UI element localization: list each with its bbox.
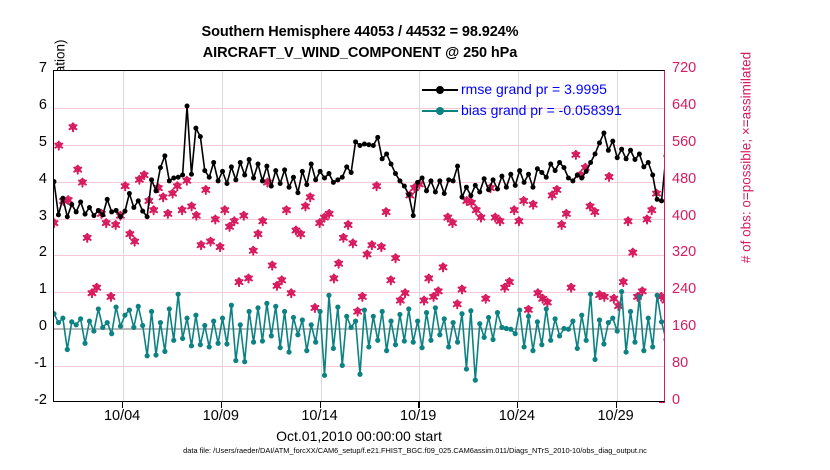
legend-marker-rmse [422,84,458,96]
rmse-point [406,192,411,197]
bias-point [335,304,340,309]
x-axis-label: Oct.01,2010 00:00:00 start [53,428,665,444]
rmse-point [380,156,385,161]
rmse-point [433,190,438,195]
rmse-point [287,185,292,190]
rmse-point [442,191,447,196]
bias-point [641,348,646,353]
rmse-point [659,198,664,203]
rmse-point [597,140,602,145]
bias-point [526,314,531,319]
bias-point [663,337,665,342]
x-tick-label: 10/24 [482,408,552,424]
y-tick-label-right: 160 [672,318,722,334]
rmse-point [641,164,646,169]
bias-point [109,331,114,336]
rmse-point [606,148,611,153]
rmse-point [468,193,473,198]
rmse-point [477,190,482,195]
bias-point [557,333,562,338]
bias-point [357,372,362,377]
bias-point [544,306,549,311]
rmse-point [251,175,256,180]
bias-point [207,344,212,349]
bias-point [171,338,176,343]
bias-point [601,341,606,346]
bias-point [238,322,243,327]
chart-title-line-2: AIRCRAFT_V_WIND_COMPONENT @ 250 hPa [0,43,720,64]
rmse-point [96,208,101,213]
y-tick-label-left: -1 [7,355,47,371]
bias-point [362,307,367,312]
bias-point [650,344,655,349]
y-tick-label-left: 3 [7,208,47,224]
bias-point [380,309,385,314]
y-tick-label-right: 0 [672,392,722,408]
rmse-point [402,184,407,189]
rmse-point [415,180,420,185]
chart-legend: rmse grand pr = 3.9995 bias grand pr = -… [418,77,626,124]
rmse-point [211,160,216,165]
bias-point [353,319,358,324]
rmse-point [637,152,642,157]
rmse-point [56,212,61,217]
bias-point [495,310,500,315]
bias-point [286,349,291,354]
bias-point [597,317,602,322]
bias-point [566,327,571,332]
rmse-point [114,208,119,213]
bias-point [482,335,487,340]
x-tick-label: 10/04 [87,408,157,424]
bias-point [180,336,185,341]
bias-point [371,314,376,319]
rmse-point [437,178,442,183]
bias-point [455,340,460,345]
bias-point [220,316,225,321]
rmse-point [224,181,229,186]
rmse-point [74,209,79,214]
bias-point [69,319,74,324]
bias-point [592,357,597,362]
rmse-point [366,142,371,147]
y-axis-right-label: # of obs: o=possible; ×=assimilated [739,0,754,323]
bias-point [300,317,305,322]
bias-point [513,331,518,336]
legend-entry-bias: bias grand pr = -0.058391 [422,100,622,121]
bias-point [468,308,473,313]
bias-point [198,342,203,347]
rmse-point [473,183,478,188]
bias-point [451,320,456,325]
rmse-point [145,214,150,219]
rmse-point [154,188,159,193]
bias-point [113,304,118,309]
bias-point [442,316,447,321]
bias-point [291,315,296,320]
rmse-point [131,205,136,210]
bias-line [54,292,665,381]
rmse-point [269,184,274,189]
bias-point [535,319,540,324]
rmse-point [91,213,96,218]
bias-point [521,344,526,349]
bias-point [189,343,194,348]
bias-point [632,340,637,345]
bias-point [437,332,442,337]
bias-point [105,320,110,325]
bias-point [78,316,83,321]
bias-point [122,313,127,318]
bias-point [317,309,322,314]
rmse-point [446,177,451,182]
bias-point [149,309,154,314]
bias-point [344,314,349,319]
rmse-point [428,178,433,183]
rmse-point [176,175,181,180]
rmse-point [544,175,549,180]
rmse-point [291,175,296,180]
bias-point [508,327,513,332]
rmse-point [198,134,203,139]
bias-point [247,309,252,314]
bias-point [623,349,628,354]
bias-point [282,309,287,314]
bias-point [366,344,371,349]
bias-point [326,293,331,298]
bias-point [397,312,402,317]
rmse-point [375,135,380,140]
rmse-point [628,148,633,153]
bias-point [637,294,642,299]
rmse-point [318,169,323,174]
bias-point [131,325,136,330]
rmse-point [615,155,620,160]
rmse-point [335,177,340,182]
rmse-point [588,160,593,165]
bias-point [313,340,318,345]
bias-point [269,333,274,338]
rmse-point [371,143,376,148]
rmse-point [553,168,558,173]
rmse-point [557,160,562,165]
y-tick-label-right: 240 [672,281,722,297]
bias-point [428,338,433,343]
bias-point [158,320,163,325]
y-tick-label-left: -2 [7,392,47,408]
bias-point [490,337,495,342]
bias-point [411,340,416,345]
bias-point [464,366,469,371]
bias-point [278,345,283,350]
bias-point [504,326,509,331]
rmse-point [384,152,389,157]
x-tick-label: 10/19 [383,408,453,424]
rmse-point [326,171,331,176]
bias-point [628,309,633,314]
bias-point [162,349,167,354]
rmse-point [242,173,247,178]
y-tick-label-left: 2 [7,244,47,260]
rmse-point [136,198,141,203]
bias-point [419,345,424,350]
bias-point [100,325,105,330]
bias-point [619,289,624,294]
bias-point [87,319,92,324]
rmse-point [513,183,518,188]
legend-marker-bias [422,105,458,117]
rmse-point [167,178,172,183]
rmse-point [548,161,553,166]
y-tick-label-left: 1 [7,281,47,297]
rmse-point [331,180,336,185]
rmse-point [105,197,110,202]
bias-point [575,346,580,351]
bias-point [304,348,309,353]
chart-title: Southern Hemisphere 44053 / 44532 = 98.9… [0,22,720,64]
data-file-footer: data file: /Users/raeder/DAI/ATM_forcXX/… [0,446,830,455]
rmse-point [664,153,666,158]
bias-point [153,352,158,357]
rmse-point [340,175,345,180]
rmse-point [420,175,425,180]
rmse-point [304,182,309,187]
bias-point [646,316,651,321]
bias-point [145,353,150,358]
bias-point [384,348,389,353]
bias-point [615,328,620,333]
bias-series-group [54,289,665,383]
rmse-point [464,185,469,190]
rmse-point [579,175,584,180]
rmse-point [171,175,176,180]
rmse-point [349,170,354,175]
rmse-point [238,160,243,165]
rmse-point [535,166,540,171]
bias-point [584,338,589,343]
rmse-point [264,164,269,169]
bias-point [184,316,189,321]
rmse-point [256,161,261,166]
bias-point [136,304,141,309]
y-tick-label-right: 320 [672,244,722,260]
bias-point [588,292,593,297]
y-tick-mark-right [659,402,665,403]
rmse-point [65,214,70,219]
bias-point [65,347,70,352]
rmse-point [486,187,491,192]
bias-point [91,328,96,333]
bias-point [349,325,354,330]
rmse-point [455,164,460,169]
bias-point [82,341,87,346]
rmse-point [322,175,327,180]
rmse-point [278,181,283,186]
rmse-point [78,199,83,204]
bias-point [433,305,438,310]
rmse-point [180,173,185,178]
rmse-point [100,212,105,217]
rmse-point [482,176,487,181]
rmse-point [362,142,367,147]
rmse-point [646,160,651,165]
bias-point [264,301,269,306]
rmse-point [504,185,509,190]
bias-point [140,323,145,328]
bias-point [459,311,464,316]
bias-point [295,332,300,337]
y-tick-label-right: 480 [672,171,722,187]
y-tick-label-left: 5 [7,134,47,150]
rmse-point [562,165,567,170]
rmse-point [411,213,416,218]
rmse-point [193,126,198,131]
bias-point [570,319,575,324]
legend-label-bias: bias grand pr = -0.058391 [461,100,622,121]
y-tick-label-left: 4 [7,171,47,187]
rmse-point [118,214,123,219]
bias-point [202,323,207,328]
bias-point [375,338,380,343]
rmse-point [632,157,637,162]
bias-point [251,340,256,345]
bias-point [606,320,611,325]
rmse-point [122,209,127,214]
bias-point [415,319,420,324]
rmse-point [539,170,544,175]
rmse-point [517,168,522,173]
bias-point [127,307,132,312]
bias-point [539,342,544,347]
bias-point [655,293,660,298]
rmse-point [309,161,314,166]
bias-point [176,292,181,297]
bias-point [233,358,238,363]
rmse-point [424,188,429,193]
rmse-point [295,190,300,195]
bias-point [260,338,265,343]
bias-point [60,316,65,321]
rmse-point [216,178,221,183]
bias-point [56,320,61,325]
y-tick-label-left: 7 [7,60,47,76]
rmse-point [260,178,265,183]
rmse-point [495,187,500,192]
rmse-point [60,196,65,201]
bias-point [322,373,327,378]
bias-point [446,344,451,349]
bias-point [273,304,278,309]
rmse-point [526,172,531,177]
legend-label-rmse: rmse grand pr = 3.9995 [461,79,607,100]
rmse-point [389,161,394,166]
bias-point [118,324,123,329]
rmse-point [140,209,145,214]
bias-point [402,338,407,343]
rmse-point [584,169,589,174]
bias-point [96,306,101,311]
rmse-point [162,153,167,158]
rmse-point [499,174,504,179]
bias-point [579,313,584,318]
bias-point [499,325,504,330]
rmse-point [393,171,398,176]
rmse-point [185,104,190,109]
rmse-point [358,143,363,148]
bias-point [659,319,664,324]
rmse-point [247,157,252,162]
y-tick-label-right: 80 [672,355,722,371]
rmse-point [650,173,655,178]
rmse-point [69,202,74,207]
rmse-point [491,177,496,182]
bias-point [553,316,558,321]
bias-point [215,341,220,346]
bias-point [473,378,478,383]
bias-point [229,303,234,308]
y-tick-label-right: 640 [672,97,722,113]
bias-point [211,319,216,324]
rmse-point [619,147,624,152]
bias-point [309,322,314,327]
rmse-point [127,191,132,196]
bias-point [224,341,229,346]
rmse-point [202,168,207,173]
bias-point [331,346,336,351]
rmse-point [575,173,580,178]
bias-point [406,306,411,311]
rmse-point [610,139,615,144]
rmse-point [282,167,287,172]
rmse-point [83,212,88,217]
rmse-point [460,195,465,200]
rmse-point [566,175,571,180]
rmse-point [451,178,456,183]
y-tick-label-right: 720 [672,60,722,76]
bias-point [242,359,247,364]
bias-point [424,310,429,315]
bias-point [54,311,57,316]
y-tick-label-right: 560 [672,134,722,150]
rmse-point [149,177,154,182]
rmse-point [273,168,278,173]
y-tick-label-right: 400 [672,208,722,224]
rmse-point [522,180,527,185]
rmse-point [87,205,92,210]
y-tick-label-left: 6 [7,97,47,113]
rmse-point [570,178,575,183]
rmse-point [54,179,57,184]
rmse-point [353,139,358,144]
bias-point [486,315,491,320]
x-tick-label: 10/09 [186,408,256,424]
rmse-point [601,130,606,135]
rmse-point [220,169,225,174]
rmse-point [109,209,114,214]
bias-point [530,348,535,353]
rmse-point [344,164,349,169]
bias-point [477,321,482,326]
bias-point [561,326,566,331]
rmse-point [229,164,234,169]
figure-canvas: Southern Hemisphere 44053 / 44532 = 98.9… [0,0,830,470]
bias-point [548,338,553,343]
rmse-point [158,165,163,170]
bias-point [167,306,172,311]
bias-point [517,307,522,312]
rmse-point [624,156,629,161]
rmse-point [233,177,238,182]
